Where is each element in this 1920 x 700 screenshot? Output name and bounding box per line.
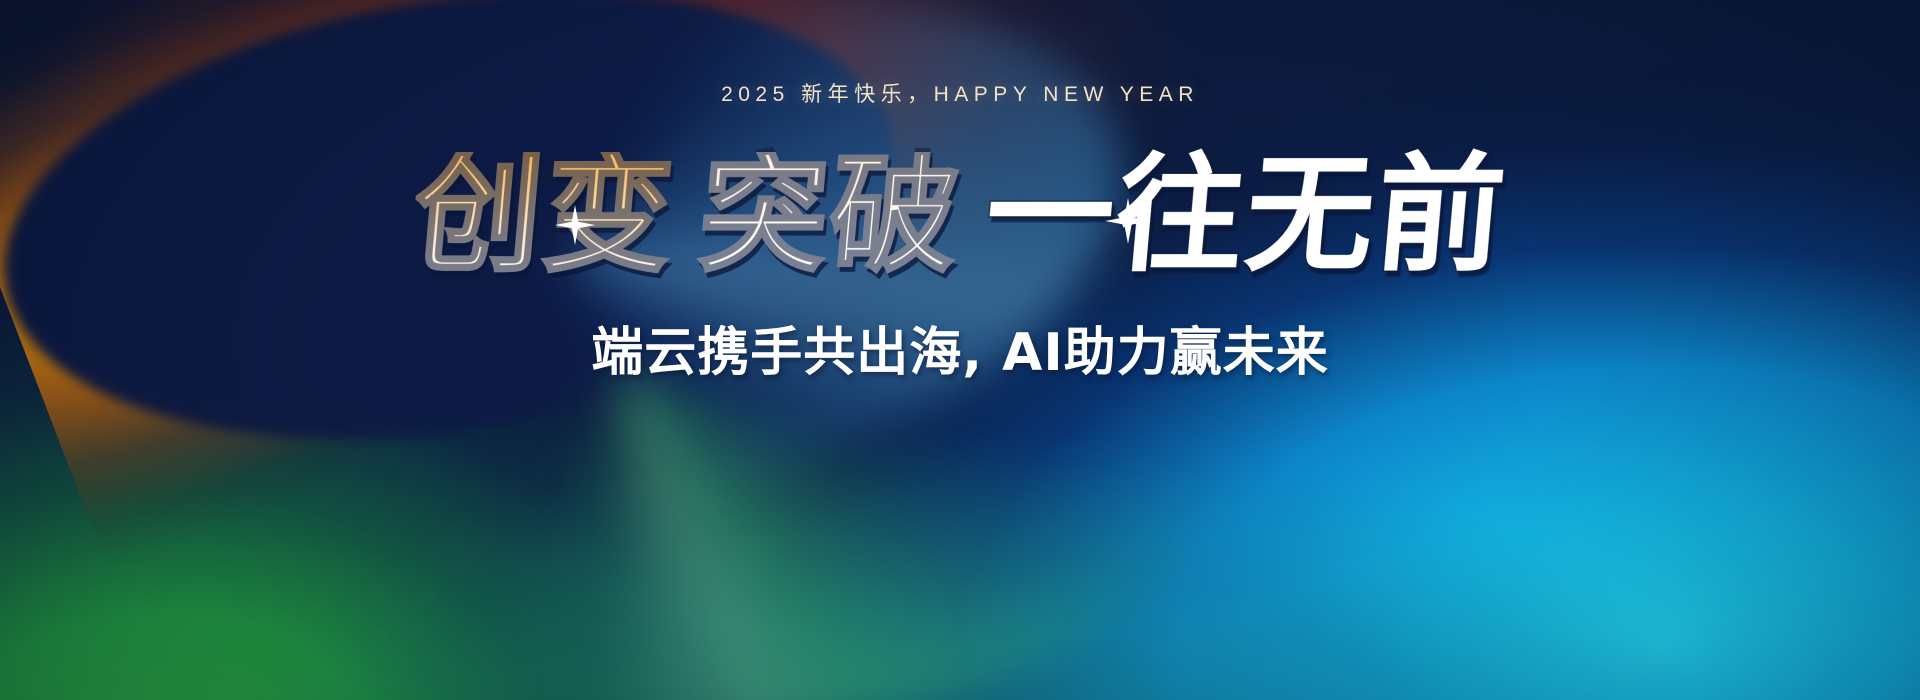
headline: 创变 突破 一往无前 <box>408 152 1511 280</box>
eyebrow-text: 2025 新年快乐，HAPPY NEW YEAR <box>721 78 1199 108</box>
banner-canvas: 2025 新年快乐，HAPPY NEW YEAR 创变 突破 一往无前 端云携手… <box>0 0 1920 700</box>
headline-cream-segment: 突破 <box>694 152 965 280</box>
headline-white-segment: 一往无前 <box>980 152 1511 280</box>
subtitle-text: 端云携手共出海, AI助力赢未来 <box>591 310 1328 385</box>
headline-gold-segment: 创变 <box>408 152 679 280</box>
banner-content: 2025 新年快乐，HAPPY NEW YEAR 创变 突破 一往无前 端云携手… <box>0 0 1920 700</box>
